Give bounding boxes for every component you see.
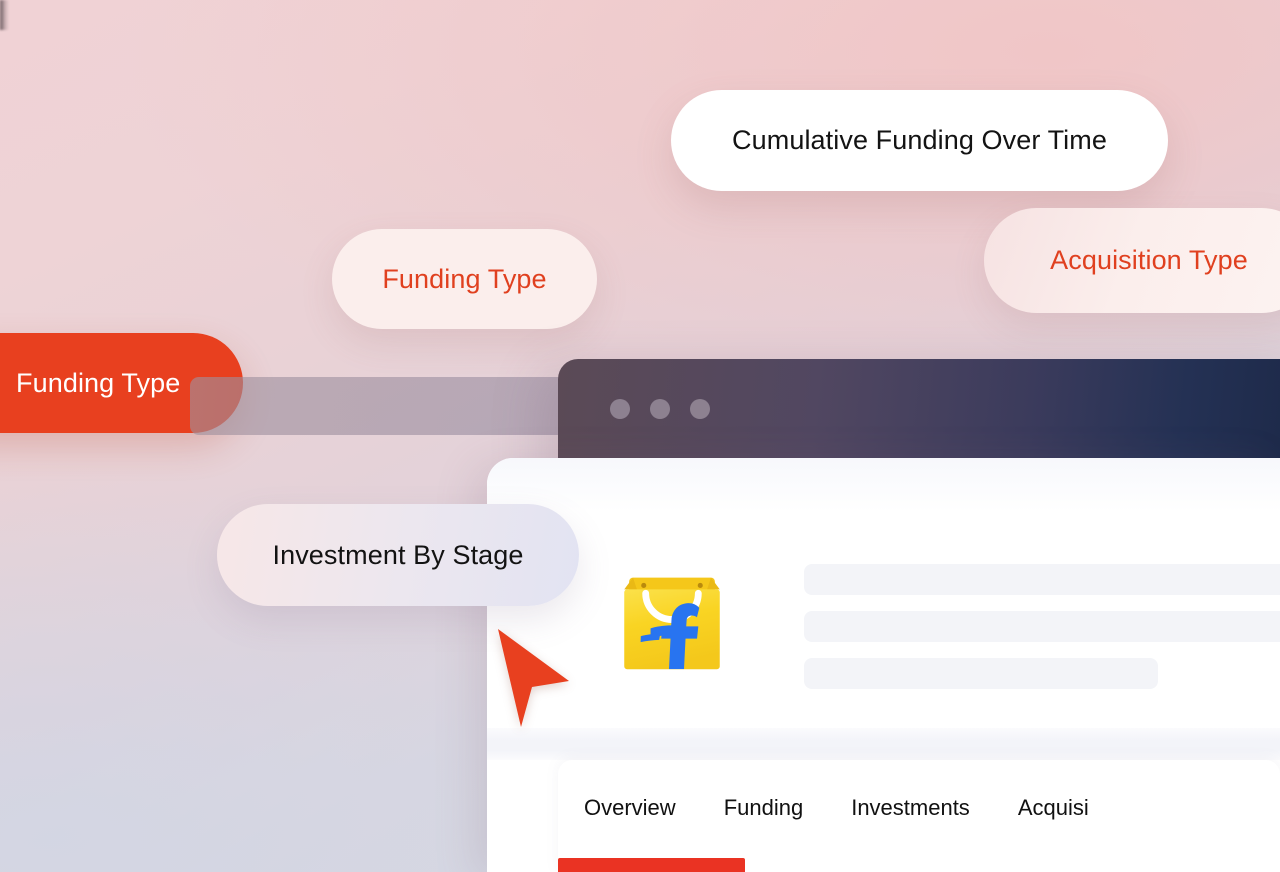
- tab-label: Overview: [584, 795, 676, 821]
- tab-funding[interactable]: Funding: [700, 760, 828, 856]
- pill-funding-type-soft[interactable]: Funding Type: [332, 229, 597, 329]
- close-dot-icon[interactable]: [610, 399, 630, 419]
- pill-investment-by-stage[interactable]: Investment By Stage: [217, 504, 579, 606]
- corner-artifact: [0, 0, 9, 30]
- red-arrow-pointer-icon: [495, 626, 573, 730]
- pill-cumulative-funding-over-time[interactable]: Cumulative Funding Over Time: [671, 90, 1168, 191]
- active-tab-underline: [558, 858, 745, 872]
- pill-label: Cumulative Funding Over Time: [732, 125, 1107, 156]
- tab-label: Funding: [724, 795, 804, 821]
- hero-canvas: Funding Type Funding Type Cumulative Fun…: [0, 0, 1280, 872]
- pill-acquisition-type[interactable]: Acquisition Type: [984, 208, 1280, 313]
- skeleton-line: [804, 611, 1280, 642]
- minimize-dot-icon[interactable]: [650, 399, 670, 419]
- tab-label: Acquisi: [1018, 795, 1089, 821]
- tab-overview[interactable]: Overview: [558, 760, 700, 856]
- pill-label: Funding Type: [16, 368, 180, 399]
- tab-acquisitions[interactable]: Acquisi: [994, 760, 1113, 856]
- pill-label: Investment By Stage: [272, 540, 523, 571]
- skeleton-line: [804, 564, 1280, 595]
- section-divider-band: [487, 728, 1280, 760]
- company-info-skeleton: [804, 564, 1280, 705]
- maximize-dot-icon[interactable]: [690, 399, 710, 419]
- tab-panel: Overview Funding Investments Acquisi: [558, 760, 1280, 872]
- company-header-row: [613, 564, 731, 679]
- traffic-light-group: [610, 399, 710, 419]
- card-top-wash: [487, 458, 1280, 512]
- flipkart-logo: [613, 564, 731, 679]
- skeleton-line: [804, 658, 1158, 689]
- pill-label: Acquisition Type: [1050, 245, 1248, 276]
- browser-chrome-bar: [558, 359, 1280, 458]
- company-page-card: Overview Funding Investments Acquisi: [487, 458, 1280, 872]
- tab-bar: Overview Funding Investments Acquisi: [558, 760, 1113, 856]
- tab-label: Investments: [851, 795, 970, 821]
- tab-investments[interactable]: Investments: [827, 760, 994, 856]
- pill-label: Funding Type: [382, 264, 546, 295]
